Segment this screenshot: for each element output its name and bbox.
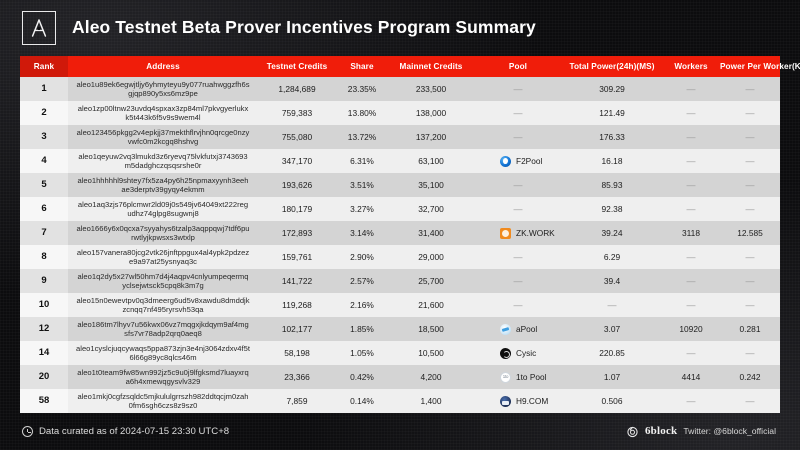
table-row[interactable]: 2aleo1zp00ltnw23uvdq4spxax3zp84ml7pkvgye…: [20, 101, 780, 125]
cell-testnet-credits: 180,179: [258, 197, 336, 221]
cell-total-power: 16.18: [562, 149, 662, 173]
pool-name: Cysic: [516, 348, 536, 358]
cell-mainnet-credits: 137,200: [388, 125, 474, 149]
table-row[interactable]: 10aleo15n0ewevtpv0q3dmeerg6ud5v8xawdu8dm…: [20, 293, 780, 317]
cell-workers: —: [662, 77, 720, 101]
cell-mainnet-credits: 29,000: [388, 245, 474, 269]
table-row[interactable]: 3aleo123456pkgg2v4epkjj37mekthflrvjhn0qr…: [20, 125, 780, 149]
column-header-mainnet-credits[interactable]: Mainnet Credits: [388, 56, 474, 77]
cell-testnet-credits: 759,383: [258, 101, 336, 125]
summary-table-container: Rank Address Testnet Credits Share Mainn…: [20, 56, 780, 413]
cell-address: aleo1zp00ltnw23uvdq4spxax3zp84ml7pkvgyer…: [68, 101, 258, 125]
column-header-pool[interactable]: Pool: [474, 56, 562, 77]
cell-rank: 3: [20, 125, 68, 149]
pool-label-group: F2Pool: [474, 156, 562, 167]
cell-rank: 5: [20, 173, 68, 197]
cell-power-per-worker: —: [720, 149, 780, 173]
cell-workers: —: [662, 149, 720, 173]
cell-share: 1.05%: [336, 341, 388, 365]
cell-share: 0.14%: [336, 389, 388, 413]
cell-total-power: —: [562, 293, 662, 317]
cell-workers: 3118: [662, 221, 720, 245]
cell-address: aleo123456pkgg2v4epkjj37mekthflrvjhn0qrc…: [68, 125, 258, 149]
cell-pool: —: [474, 125, 562, 149]
cell-total-power: 220.85: [562, 341, 662, 365]
column-header-power-per-worker[interactable]: Power Per Worker(KS): [720, 56, 780, 77]
cell-rank: 6: [20, 197, 68, 221]
cell-address: aleo186tm7lhyv7u56kwx06vz7mqgxjkdqym9af4…: [68, 317, 258, 341]
cell-power-per-worker: —: [720, 173, 780, 197]
clock-icon: [22, 426, 33, 437]
cell-pool: ZK.WORK: [474, 221, 562, 245]
cysic-icon: [500, 348, 511, 359]
cell-workers: 4414: [662, 365, 720, 389]
cell-rank: 8: [20, 245, 68, 269]
cell-testnet-credits: 141,722: [258, 269, 336, 293]
apool-icon: [500, 324, 511, 335]
brand-twitter-handle: Twitter: @6block_official: [683, 426, 776, 436]
column-header-workers[interactable]: Workers: [662, 56, 720, 77]
cell-share: 13.72%: [336, 125, 388, 149]
cell-address: aleo1aq3zjs76plcmwr2ld09j0s549jv64049xt2…: [68, 197, 258, 221]
column-header-total-power[interactable]: Total Power(24h)(MS): [562, 56, 662, 77]
cell-power-per-worker: 0.281: [720, 317, 780, 341]
cell-power-per-worker: —: [720, 77, 780, 101]
cell-share: 3.14%: [336, 221, 388, 245]
cell-workers: —: [662, 101, 720, 125]
cell-workers: —: [662, 341, 720, 365]
cell-testnet-credits: 347,170: [258, 149, 336, 173]
zkwork-icon: [500, 228, 511, 239]
cell-power-per-worker: —: [720, 245, 780, 269]
cell-address: aleo1cyslcjuqcywaqs5ppa873zjn3e4nj3064zd…: [68, 341, 258, 365]
cell-share: 3.51%: [336, 173, 388, 197]
pool-label-group: Cysic: [474, 348, 562, 359]
cell-workers: —: [662, 293, 720, 317]
cell-testnet-credits: 193,626: [258, 173, 336, 197]
cell-share: 2.16%: [336, 293, 388, 317]
cell-workers: —: [662, 245, 720, 269]
cell-total-power: 1.07: [562, 365, 662, 389]
page-title: Aleo Testnet Beta Prover Incentives Prog…: [72, 17, 536, 38]
cell-power-per-worker: —: [720, 293, 780, 317]
cell-rank: 14: [20, 341, 68, 365]
cell-rank: 1: [20, 77, 68, 101]
cell-address: aleo1hhhhhl9shtey7fx5za4py6h25npmaxyynh3…: [68, 173, 258, 197]
cell-share: 2.90%: [336, 245, 388, 269]
cell-address: aleo1t0team9fw85wn992jz5c9u0j9lfgksmd7lu…: [68, 365, 258, 389]
column-header-rank[interactable]: Rank: [20, 56, 68, 77]
cell-workers: —: [662, 173, 720, 197]
cell-mainnet-credits: 1,400: [388, 389, 474, 413]
cell-total-power: 121.49: [562, 101, 662, 125]
cell-workers: —: [662, 125, 720, 149]
cell-pool: —: [474, 77, 562, 101]
cell-testnet-credits: 172,893: [258, 221, 336, 245]
cell-mainnet-credits: 138,000: [388, 101, 474, 125]
cell-power-per-worker: —: [720, 101, 780, 125]
cell-workers: —: [662, 269, 720, 293]
table-header-row: Rank Address Testnet Credits Share Mainn…: [20, 56, 780, 77]
cell-mainnet-credits: 10,500: [388, 341, 474, 365]
cell-power-per-worker: —: [720, 341, 780, 365]
cell-pool: H9.COM: [474, 389, 562, 413]
cell-share: 6.31%: [336, 149, 388, 173]
pool-name: 1to Pool: [516, 372, 546, 382]
cell-pool: F2Pool: [474, 149, 562, 173]
cell-address: aleo1u89ek6egwjtljy6yhmyteyu9y077ruahwgg…: [68, 77, 258, 101]
cell-testnet-credits: 58,198: [258, 341, 336, 365]
cell-testnet-credits: 23,366: [258, 365, 336, 389]
cell-power-per-worker: —: [720, 269, 780, 293]
cell-total-power: 39.4: [562, 269, 662, 293]
cell-rank: 2: [20, 101, 68, 125]
pool-name: H9.COM: [516, 396, 548, 406]
cell-pool: —: [474, 245, 562, 269]
cell-rank: 12: [20, 317, 68, 341]
table-row[interactable]: 58aleo1mkj0cgfzsqldc5mjkululgrrszh982ddt…: [20, 389, 780, 413]
aleo-a-logo-icon: [22, 11, 56, 45]
pool-label-group: aPool: [474, 324, 562, 335]
pool-name: aPool: [516, 324, 537, 334]
cell-workers: —: [662, 197, 720, 221]
table-row[interactable]: 12aleo186tm7lhyv7u56kwx06vz7mqgxjkdqym9a…: [20, 317, 780, 341]
6block-logo-icon: [626, 425, 639, 438]
h9com-icon: [500, 396, 511, 407]
cell-mainnet-credits: 32,700: [388, 197, 474, 221]
cell-mainnet-credits: 63,100: [388, 149, 474, 173]
column-header-address[interactable]: Address: [68, 56, 258, 77]
table-row[interactable]: 7aleo1666y6x0qcxa7syyahys6tzalp3aqppqwj7…: [20, 221, 780, 245]
curated-timestamp: Data curated as of 2024-07-15 23:30 UTC+…: [39, 426, 229, 437]
brand-name: 6block: [645, 425, 677, 437]
cell-total-power: 309.29: [562, 77, 662, 101]
cell-share: 0.42%: [336, 365, 388, 389]
cell-mainnet-credits: 35,100: [388, 173, 474, 197]
table-row[interactable]: 8aleo157vanera80jcg2vtk26jnftppgux4al4yp…: [20, 245, 780, 269]
cell-mainnet-credits: 233,500: [388, 77, 474, 101]
cell-share: 23.35%: [336, 77, 388, 101]
cell-total-power: 0.506: [562, 389, 662, 413]
cell-pool: Cysic: [474, 341, 562, 365]
cell-testnet-credits: 102,177: [258, 317, 336, 341]
cell-testnet-credits: 119,268: [258, 293, 336, 317]
cell-total-power: 92.38: [562, 197, 662, 221]
cell-testnet-credits: 1,284,689: [258, 77, 336, 101]
cell-testnet-credits: 755,080: [258, 125, 336, 149]
cell-pool: —: [474, 101, 562, 125]
pool-label-group: H9.COM: [474, 396, 562, 407]
cell-share: 2.57%: [336, 269, 388, 293]
cell-power-per-worker: —: [720, 125, 780, 149]
cell-total-power: 39.24: [562, 221, 662, 245]
table-row[interactable]: 5aleo1hhhhhl9shtey7fx5za4py6h25npmaxyynh…: [20, 173, 780, 197]
cell-rank: 10: [20, 293, 68, 317]
1to-pool-icon: [500, 372, 511, 383]
cell-mainnet-credits: 25,700: [388, 269, 474, 293]
cell-mainnet-credits: 4,200: [388, 365, 474, 389]
cell-testnet-credits: 159,761: [258, 245, 336, 269]
footer-brand-group: 6block Twitter: @6block_official: [626, 425, 776, 438]
pool-name: F2Pool: [516, 156, 542, 166]
cell-pool: —: [474, 173, 562, 197]
cell-address: aleo1mkj0cgfzsqldc5mjkululgrrszh982ddtqc…: [68, 389, 258, 413]
cell-rank: 4: [20, 149, 68, 173]
page-header: Aleo Testnet Beta Prover Incentives Prog…: [0, 0, 800, 55]
cell-testnet-credits: 7,859: [258, 389, 336, 413]
cell-share: 13.80%: [336, 101, 388, 125]
cell-total-power: 3.07: [562, 317, 662, 341]
cell-power-per-worker: —: [720, 389, 780, 413]
cell-total-power: 85.93: [562, 173, 662, 197]
column-header-testnet-credits[interactable]: Testnet Credits: [258, 56, 336, 77]
table-row[interactable]: 4aleo1qeyuw2vq3lmukd3z6ryevq75lvkfutxj37…: [20, 149, 780, 173]
cell-address: aleo1qeyuw2vq3lmukd3z6ryevq75lvkfutxj374…: [68, 149, 258, 173]
cell-workers: 10920: [662, 317, 720, 341]
pool-label-group: ZK.WORK: [474, 228, 562, 239]
cell-address: aleo15n0ewevtpv0q3dmeerg6ud5v8xawdu8dmdd…: [68, 293, 258, 317]
cell-pool: aPool: [474, 317, 562, 341]
cell-rank: 58: [20, 389, 68, 413]
pool-name: ZK.WORK: [516, 228, 555, 238]
cell-workers: —: [662, 389, 720, 413]
cell-pool: 1to Pool: [474, 365, 562, 389]
cell-rank: 20: [20, 365, 68, 389]
column-header-share[interactable]: Share: [336, 56, 388, 77]
table-row[interactable]: 1aleo1u89ek6egwjtljy6yhmyteyu9y077ruahwg…: [20, 77, 780, 101]
cell-share: 1.85%: [336, 317, 388, 341]
cell-address: aleo157vanera80jcg2vtk26jnftppgux4al4ypk…: [68, 245, 258, 269]
cell-power-per-worker: —: [720, 197, 780, 221]
table-body: 1aleo1u89ek6egwjtljy6yhmyteyu9y077ruahwg…: [20, 77, 780, 413]
cell-pool: —: [474, 197, 562, 221]
cell-share: 3.27%: [336, 197, 388, 221]
cell-mainnet-credits: 18,500: [388, 317, 474, 341]
cell-pool: —: [474, 269, 562, 293]
cell-rank: 9: [20, 269, 68, 293]
cell-power-per-worker: 0.242: [720, 365, 780, 389]
table-row[interactable]: 6aleo1aq3zjs76plcmwr2ld09j0s549jv64049xt…: [20, 197, 780, 221]
footer-curated-group: Data curated as of 2024-07-15 23:30 UTC+…: [22, 426, 229, 437]
cell-mainnet-credits: 31,400: [388, 221, 474, 245]
cell-address: aleo1666y6x0qcxa7syyahys6tzalp3aqppqwj7t…: [68, 221, 258, 245]
page-footer: Data curated as of 2024-07-15 23:30 UTC+…: [0, 412, 800, 450]
cell-mainnet-credits: 21,600: [388, 293, 474, 317]
table-row[interactable]: 9aleo1q2dy5x27wl50hm7d4j4aqpv4cnlyumpeqe…: [20, 269, 780, 293]
cell-address: aleo1q2dy5x27wl50hm7d4j4aqpv4cnlyumpeqer…: [68, 269, 258, 293]
cell-total-power: 6.29: [562, 245, 662, 269]
cell-pool: —: [474, 293, 562, 317]
f2pool-icon: [500, 156, 511, 167]
screenshot-root: Aleo Testnet Beta Prover Incentives Prog…: [0, 0, 800, 450]
prover-summary-table: Rank Address Testnet Credits Share Mainn…: [20, 56, 780, 413]
pool-label-group: 1to Pool: [474, 372, 562, 383]
table-row[interactable]: 20aleo1t0team9fw85wn992jz5c9u0j9lfgksmd7…: [20, 365, 780, 389]
cell-rank: 7: [20, 221, 68, 245]
cell-total-power: 176.33: [562, 125, 662, 149]
cell-power-per-worker: 12.585: [720, 221, 780, 245]
table-row[interactable]: 14aleo1cyslcjuqcywaqs5ppa873zjn3e4nj3064…: [20, 341, 780, 365]
